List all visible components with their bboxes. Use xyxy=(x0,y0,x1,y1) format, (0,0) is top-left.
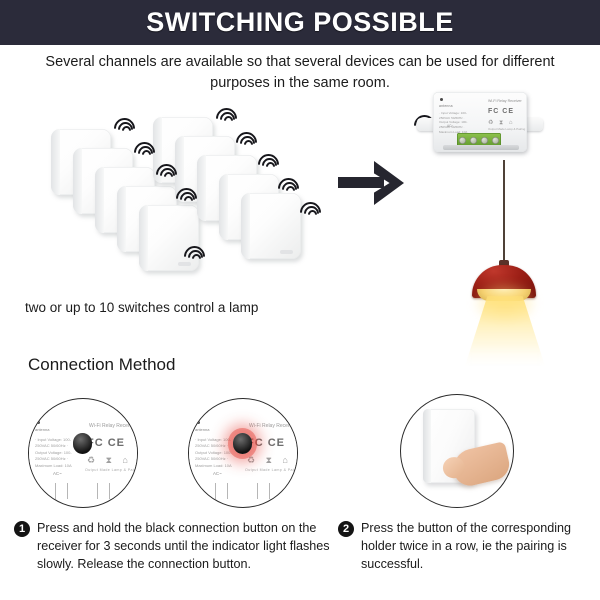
wifi-signal-icon xyxy=(113,117,137,139)
relay-brand-label: antenna xyxy=(439,104,453,108)
lamp-cord xyxy=(503,160,505,264)
relay-face: antenna Wi-Fi Relay Receiver · Input Vol… xyxy=(188,413,298,499)
diagram-caption: two or up to 10 switches control a lamp xyxy=(25,298,295,318)
terminal-screw xyxy=(470,137,477,144)
relay-symbol-row: ♻ ⧗ ⌂ xyxy=(488,119,515,127)
detail-circle-switch-press xyxy=(400,394,514,508)
connection-button[interactable] xyxy=(73,433,92,454)
wifi-signal-icon xyxy=(235,131,259,153)
relay-brand-label: antenna xyxy=(195,427,209,432)
ac-label: AC~ xyxy=(53,471,62,476)
relay-symbol-row: ♻ ⧗ ⌂ xyxy=(247,455,292,466)
detail-circle-relay-normal: antenna Wi-Fi Relay Receiver · Input Vol… xyxy=(28,398,138,508)
certification-mark: FC CE xyxy=(488,108,514,115)
terminal-screw xyxy=(459,137,466,144)
step-number-badge: 2 xyxy=(338,521,354,537)
step-item: 2 Press the button of the corresponding … xyxy=(338,520,590,574)
step-text: Press and hold the black connection butt… xyxy=(37,520,332,574)
relay-title-label: Wi-Fi Relay Receiver xyxy=(249,423,296,429)
wire-diagram xyxy=(41,477,133,499)
switch-array-illustration xyxy=(25,105,355,285)
wifi-signal-icon xyxy=(277,177,301,199)
wifi-signal-icon xyxy=(257,153,281,175)
status-led-icon xyxy=(37,421,40,424)
header-banner: SWITCHING POSSIBLE xyxy=(0,0,600,45)
relay-face: antenna Wi-Fi Relay Receiver · Input Vol… xyxy=(28,413,138,499)
wifi-signal-icon xyxy=(133,141,157,163)
relay-body: antenna Wi-Fi Relay Receiver · Input Vol… xyxy=(433,92,527,152)
relay-spec-label: · Input Voltage: 100-250VAC 50/60Hz · Ou… xyxy=(439,111,473,134)
wifi-signal-icon xyxy=(215,107,239,129)
relay-brand-label: antenna xyxy=(35,427,49,432)
wifi-signal-icon xyxy=(299,201,323,223)
step-text: Press the button of the corresponding ho… xyxy=(361,520,590,574)
wifi-signal-icon xyxy=(175,187,199,209)
relay-title-label: Wi-Fi Relay Receiver xyxy=(89,423,136,429)
certification-mark: FC CE xyxy=(247,437,285,449)
relay-receiver-device: antenna Wi-Fi Relay Receiver · Input Vol… xyxy=(415,88,545,160)
relay-symbol-labels: Output Made Lamp & Pairing xyxy=(245,468,298,472)
relay-symbol-labels: Output Made Lamp & Pairing xyxy=(488,127,525,131)
section-title-connection-method: Connection Method xyxy=(28,355,175,375)
step-item: 1 Press and hold the black connection bu… xyxy=(14,520,332,574)
wire-diagram xyxy=(201,477,293,499)
relay-symbol-labels: Output Made Lamp & Pairing xyxy=(85,468,138,472)
connection-button-flashing[interactable] xyxy=(233,433,252,454)
wall-switch xyxy=(241,193,301,259)
status-led-icon xyxy=(197,421,200,424)
relay-symbol-row: ♻ ⧗ ⌂ xyxy=(87,455,132,466)
pendant-lamp-illustration xyxy=(455,160,555,360)
step-number-badge: 1 xyxy=(14,521,30,537)
terminal-screw xyxy=(481,137,488,144)
arrow-right-icon xyxy=(338,158,412,208)
ac-label: AC~ xyxy=(213,471,222,476)
relay-base-slot xyxy=(443,145,519,150)
switch-indicator xyxy=(280,250,293,254)
relay-title-label: Wi-Fi Relay Receiver xyxy=(488,99,522,103)
product-infographic: SWITCHING POSSIBLE Several channels are … xyxy=(0,0,600,600)
ac-label: AC~ xyxy=(447,124,453,128)
status-led-icon xyxy=(440,98,443,101)
page-title: SWITCHING POSSIBLE xyxy=(146,7,454,38)
wifi-signal-icon xyxy=(155,163,179,185)
detail-circle-relay-flashing: antenna Wi-Fi Relay Receiver · Input Vol… xyxy=(188,398,298,508)
wifi-signal-icon xyxy=(183,245,207,267)
certification-mark: FC CE xyxy=(87,437,125,449)
terminal-screw xyxy=(492,137,499,144)
